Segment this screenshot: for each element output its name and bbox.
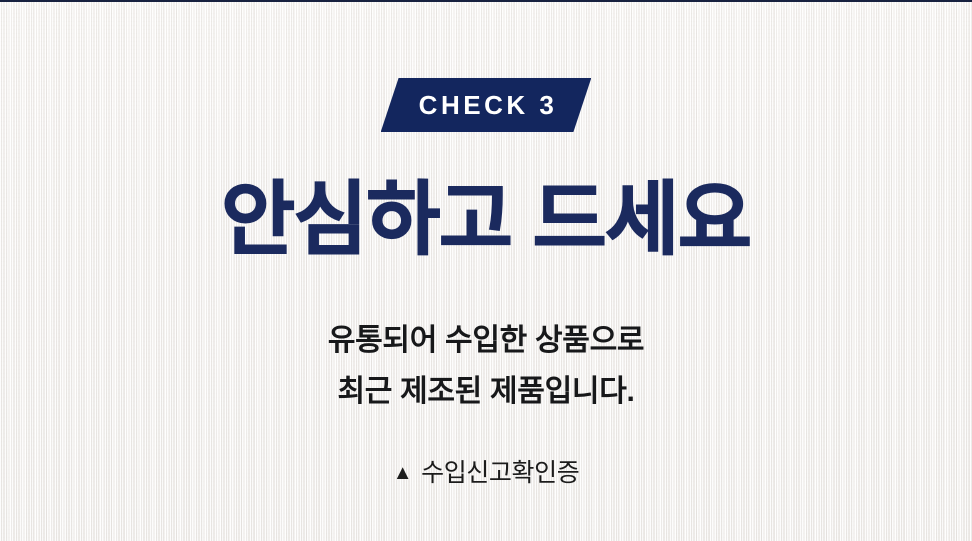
- top-edge-rule: [0, 0, 972, 2]
- check-banner-container: CHECK 3: [0, 78, 972, 132]
- caption-label: 수입신고확인증: [421, 459, 579, 487]
- body-copy-line-2: 최근 제조된 제품입니다.: [0, 366, 972, 417]
- promo-page: CHECK 3 안심하고 드세요 유통되어 수입한 상품으로 최근 제조된 제품…: [0, 0, 972, 541]
- caption: ▲수입신고확인증: [0, 458, 972, 489]
- body-copy-line-1: 유통되어 수입한 상품으로: [0, 315, 972, 366]
- triangle-marker-icon: ▲: [393, 463, 412, 483]
- page-title: 안심하고 드세요: [0, 178, 972, 263]
- check-banner-label: CHECK 3: [415, 92, 558, 118]
- body-copy: 유통되어 수입한 상품으로 최근 제조된 제품입니다.: [0, 315, 972, 417]
- check-banner: CHECK 3: [381, 78, 592, 132]
